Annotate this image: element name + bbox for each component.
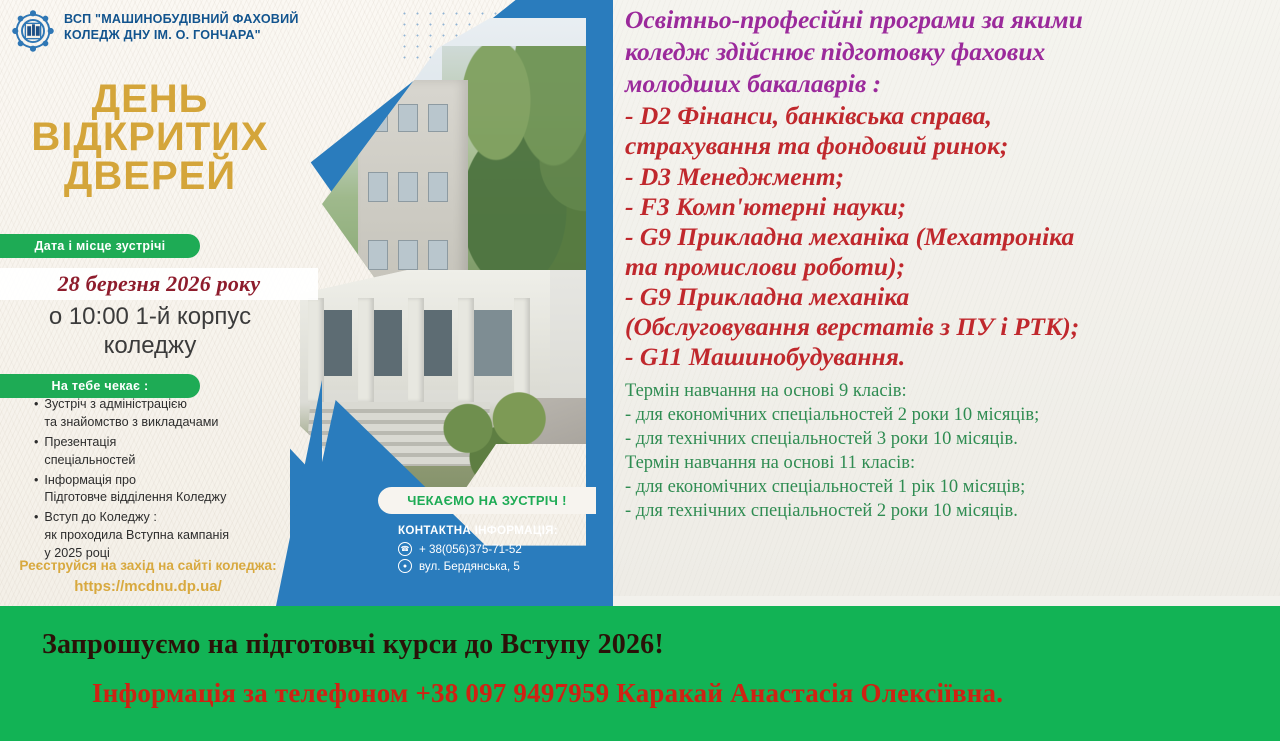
banner-line-1: Запрошуємо на підготовчі курси до Вступу… <box>42 629 664 661</box>
title-line-2: ВІДКРИТИХ <box>0 118 300 156</box>
agenda-list: • Зустріч з адміністрацією та знайомство… <box>34 396 286 565</box>
banner-line-2: Інформація за телефоном +38 097 9497959 … <box>92 678 1003 709</box>
bullet-icon: • <box>34 472 38 508</box>
contact-title: КОНТАКТНА ІНФОРМАЦІЯ: <box>398 524 608 537</box>
open-day-poster: ВСП "МАШИНОБУДІВНИЙ ФАХОВИЙ КОЛЕДЖ ДНУ І… <box>0 0 613 606</box>
bullet-icon: • <box>34 509 38 563</box>
blue-edge-strip <box>586 0 613 606</box>
list-item-label: Презентація спеціальностей <box>44 434 135 470</box>
contact-phone-row: ☎ + 38(056)375-71-52 <box>398 542 608 556</box>
gear-emblem-icon <box>10 8 56 54</box>
list-item: • Зустріч з адміністрацією та знайомство… <box>34 396 286 432</box>
contact-phone: + 38(056)375-71-52 <box>419 543 522 556</box>
list-item: • Інформація про Підготовче відділення К… <box>34 472 286 508</box>
college-branding: ВСП "МАШИНОБУДІВНИЙ ФАХОВИЙ КОЛЕДЖ ДНУ І… <box>10 8 340 54</box>
badge-date-place: Дата і місце зустрічі <box>0 234 200 258</box>
programs-heading: Освітньо-професійні програми за якими ко… <box>625 4 1272 100</box>
bullet-icon: • <box>34 434 38 470</box>
photo-portico <box>300 270 550 390</box>
study-duration-info: Термін навчання на основі 9 класів: - дл… <box>625 379 1272 523</box>
photo-shrubs <box>420 390 580 486</box>
phone-icon: ☎ <box>398 542 412 556</box>
map-pin-icon: ● <box>398 559 412 573</box>
contact-information: КОНТАКТНА ІНФОРМАЦІЯ: ☎ + 38(056)375-71-… <box>398 524 608 576</box>
list-item: • Вступ до Коледжу : як проходила Вступн… <box>34 509 286 563</box>
badge-see-you: ЧЕКАЄМО НА ЗУСТРІЧ ! <box>378 487 596 514</box>
poster-page: ВСП "МАШИНОБУДІВНИЙ ФАХОВИЙ КОЛЕДЖ ДНУ І… <box>0 0 1280 741</box>
programs-panel: Освітньо-професійні програми за якими ко… <box>613 0 1280 606</box>
title-line-1: ДЕНЬ <box>0 80 300 118</box>
preparatory-courses-banner: Запрошуємо на підготовчі курси до Вступу… <box>0 606 1280 741</box>
list-item-label: Зустріч з адміністрацією та знайомство з… <box>44 396 218 432</box>
registration-callout: Реєструйся на захід на сайті коледжа: ht… <box>0 556 296 599</box>
list-item-label: Вступ до Коледжу : як проходила Вступна … <box>44 509 229 563</box>
college-name: ВСП "МАШИНОБУДІВНИЙ ФАХОВИЙ КОЛЕДЖ ДНУ І… <box>64 11 299 43</box>
list-item-label: Інформація про Підготовче відділення Кол… <box>44 472 226 508</box>
event-time-location: о 10:00 1-й корпус коледжу <box>0 302 300 361</box>
badge-what-awaits: На тебе чекає : <box>0 374 200 398</box>
event-date: 28 березня 2026 року <box>0 268 318 300</box>
list-item: • Презентація спеціальностей <box>34 434 286 470</box>
bullet-icon: • <box>34 396 38 432</box>
page-title: ДЕНЬ ВІДКРИТИХ ДВЕРЕЙ <box>0 80 300 195</box>
registration-text: Реєструйся на захід на сайті коледжа: <box>0 556 296 576</box>
contact-address: вул. Бердянська, 5 <box>419 560 520 573</box>
panel-seam <box>613 596 1280 606</box>
title-line-3: ДВЕРЕЙ <box>0 157 300 195</box>
programs-list: - D2 Фінанси, банківська справа, страхув… <box>625 101 1272 372</box>
registration-link[interactable]: https://mcdnu.dp.ua/ <box>0 576 296 599</box>
contact-address-row: ● вул. Бердянська, 5 <box>398 559 608 573</box>
